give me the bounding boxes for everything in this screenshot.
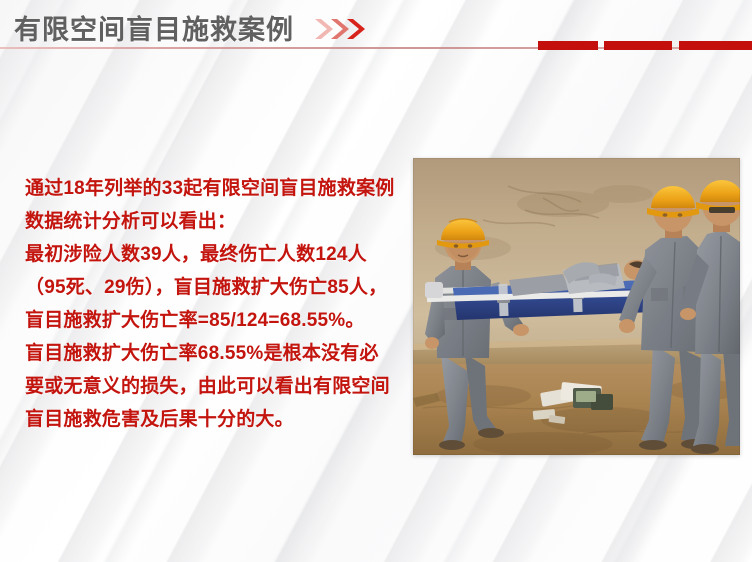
body-text-block: 通过18年列举的33起有限空间盲目施救案例 数据统计分析可以看出： 最初涉险人数…	[25, 172, 415, 436]
body-text-line: 盲目施救危害及后果十分的大。	[25, 403, 415, 436]
body-text-line: （95死、29伤），盲目施救扩大伤亡85人，	[25, 271, 415, 304]
slide-root: 有限空间盲目施救案例 通过18年列举的33起有限	[0, 0, 752, 562]
rescue-drill-illustration	[413, 158, 740, 455]
body-text-line: 最初涉险人数39人，最终伤亡人数124人	[25, 238, 415, 271]
body-text-line: 数据统计分析可以看出：	[25, 205, 415, 238]
body-text-line: 要或无意义的损失，由此可以看出有限空间	[25, 370, 415, 403]
body-text-line: 盲目施救扩大伤亡率=85/124=68.55%。	[25, 304, 415, 337]
body-text-line: 通过18年列举的33起有限空间盲目施救案例	[25, 172, 415, 205]
double-chevron-right-icon	[314, 17, 376, 41]
page-title: 有限空间盲目施救案例	[14, 8, 294, 47]
header-bar-segment-1	[538, 41, 598, 50]
body-text-line: 盲目施救扩大伤亡率68.55%是根本没有必	[25, 337, 415, 370]
header-bar-segment-2	[604, 41, 672, 50]
rescue-drill-photo	[413, 158, 740, 455]
slide-header: 有限空间盲目施救案例	[0, 0, 752, 52]
header-bar-segment-3	[679, 41, 752, 50]
